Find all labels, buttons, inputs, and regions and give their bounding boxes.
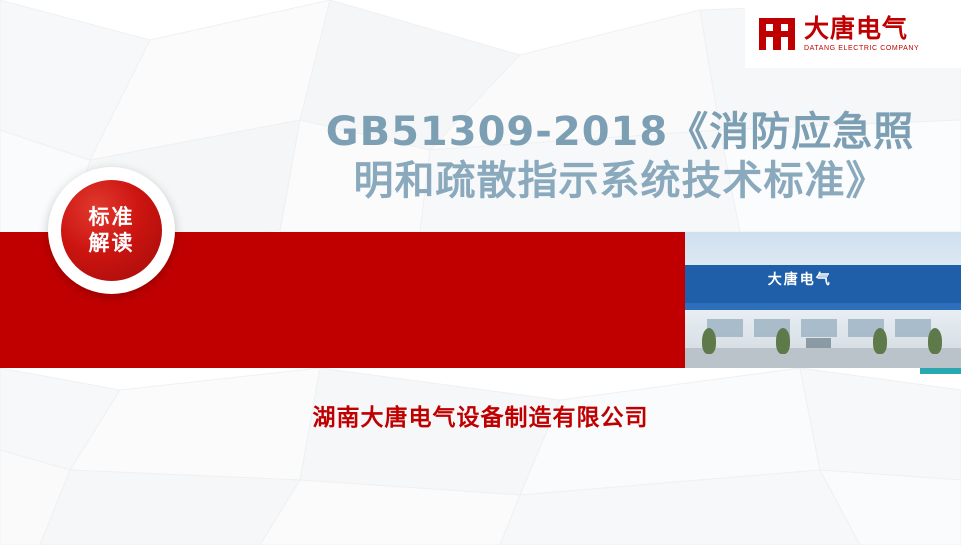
photo-tree: [702, 328, 716, 354]
datang-logo-mark-icon: [757, 14, 797, 54]
slide-title: GB51309-2018《消防应急照 明和疏散指示系统技术标准》: [300, 108, 940, 206]
photo-tree: [776, 328, 790, 354]
slide-root: 大唐电气 DATANG ELECTRIC COMPANY GB51309-201…: [0, 0, 961, 545]
slide-title-line-2: 明和疏散指示系统技术标准》: [300, 157, 940, 206]
photo-window: [895, 319, 931, 337]
photo-window: [801, 319, 837, 337]
brand-name-cn: 大唐电气: [804, 16, 919, 42]
photo-tree: [928, 328, 942, 354]
badge-inner-circle: 标准 解读: [61, 180, 162, 281]
teal-accent-bar: [920, 368, 961, 374]
photo-tree: [873, 328, 887, 354]
company-name-footer: 湖南大唐电气设备制造有限公司: [0, 398, 961, 432]
brand-name-en: DATANG ELECTRIC COMPANY: [804, 45, 919, 52]
photo-ground: [685, 348, 961, 368]
slide-title-line-1: GB51309-2018《消防应急照: [300, 108, 940, 157]
badge-line-2: 解读: [89, 231, 135, 257]
standard-interpretation-badge: 标准 解读: [48, 167, 175, 294]
brand-logo-text: 大唐电气 DATANG ELECTRIC COMPANY: [804, 16, 919, 52]
photo-sign-text: 大唐电气: [768, 269, 832, 289]
brand-logo: 大唐电气 DATANG ELECTRIC COMPANY: [745, 0, 961, 68]
factory-photo: 大唐电气: [685, 232, 961, 368]
badge-line-1: 标准: [89, 205, 135, 231]
